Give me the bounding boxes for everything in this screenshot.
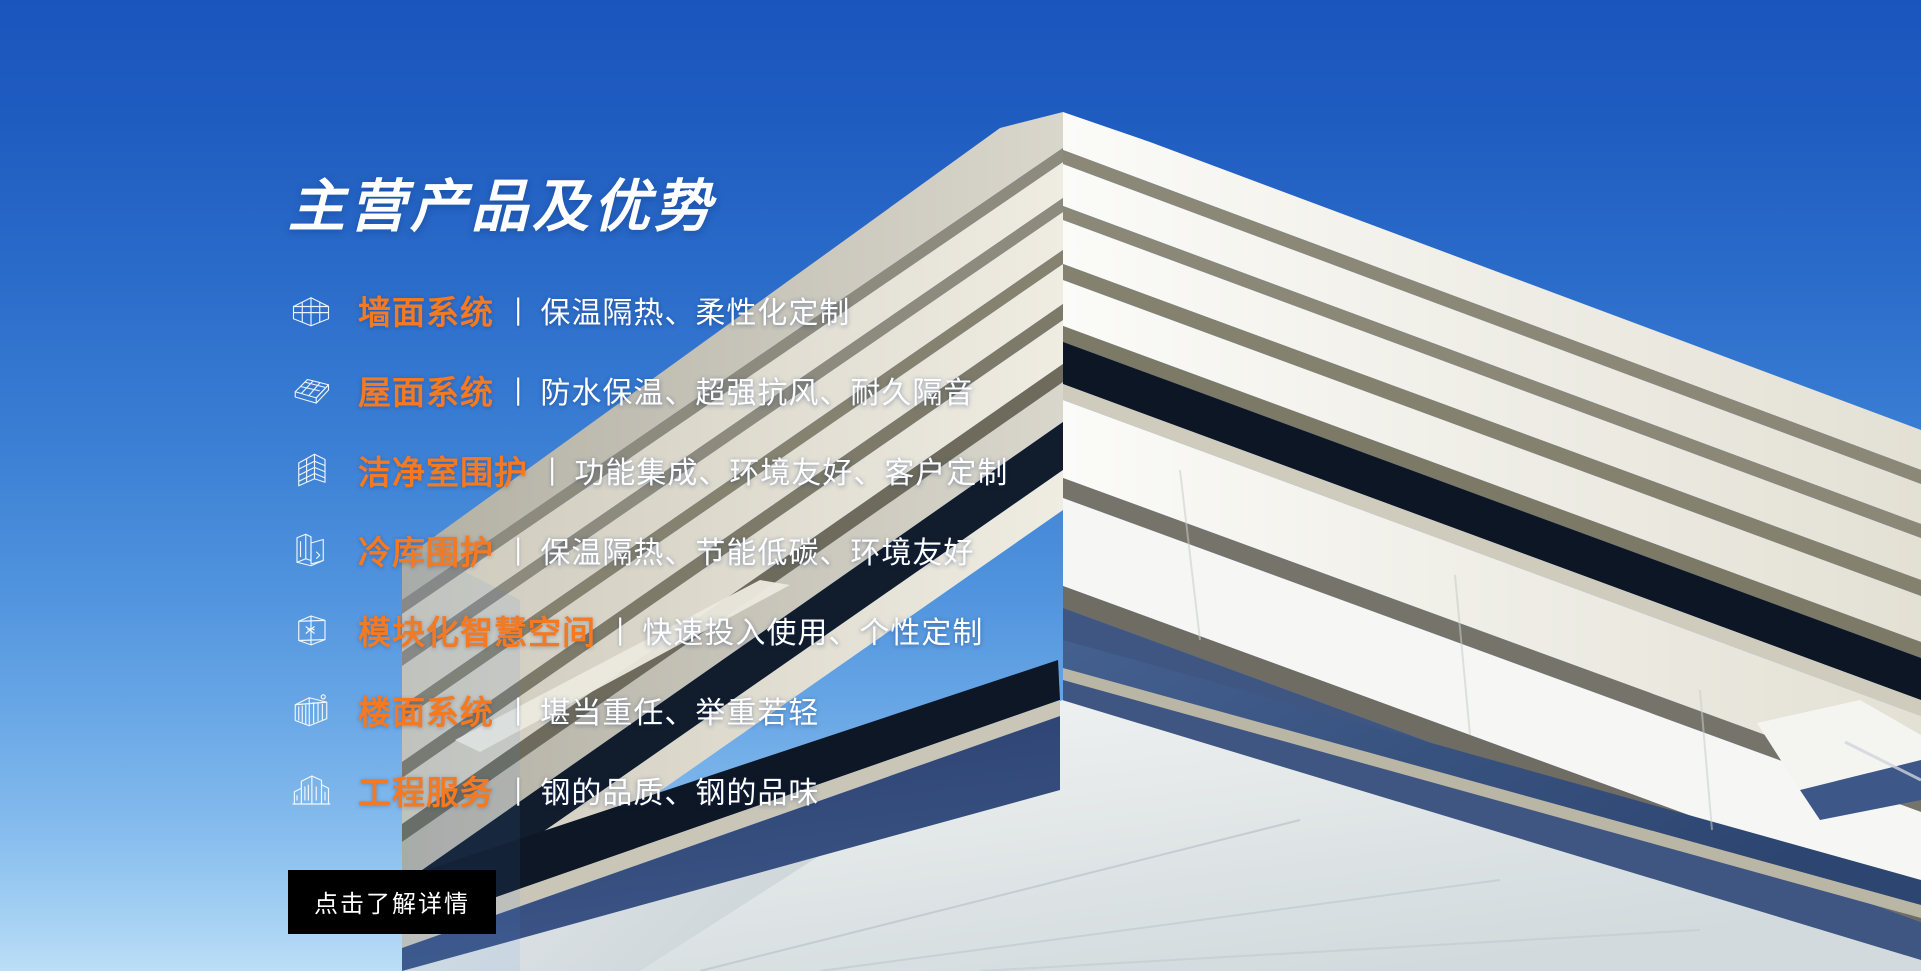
wall-frame-icon <box>288 287 334 333</box>
separator: | <box>516 775 521 805</box>
list-item[interactable]: 楼面系统 | 堪当重任、举重若轻 <box>288 682 1468 738</box>
separator: | <box>516 295 521 325</box>
product-name: 楼面系统 <box>358 686 494 734</box>
page-title: 主营产品及优势 <box>288 178 1468 238</box>
product-list: 墙面系统 | 保温隔热、柔性化定制 屋面系统 | 防水保温、超强抗风、耐久隔音 <box>288 282 1468 818</box>
modular-space-icon <box>288 607 334 653</box>
product-name: 冷库围护 <box>358 526 494 574</box>
product-desc: 堪当重任、举重若轻 <box>540 688 819 732</box>
floor-system-icon <box>288 687 334 733</box>
product-desc: 保温隔热、柔性化定制 <box>540 288 850 332</box>
separator: | <box>618 615 623 645</box>
engineering-icon <box>288 767 334 813</box>
list-item[interactable]: 模块化智慧空间 | 快速投入使用、个性定制 <box>288 602 1468 658</box>
banner-stage: 主营产品及优势 墙面系统 | 保温隔热、柔性化定制 <box>0 0 1921 971</box>
product-name: 洁净室围护 <box>358 446 528 494</box>
product-name: 墙面系统 <box>358 286 494 334</box>
separator: | <box>516 535 521 565</box>
list-item[interactable]: 冷库围护 | 保温隔热、节能低碳、环境友好 <box>288 522 1468 578</box>
list-item[interactable]: 墙面系统 | 保温隔热、柔性化定制 <box>288 282 1468 338</box>
product-name: 屋面系统 <box>358 366 494 414</box>
banner-content: 主营产品及优势 墙面系统 | 保温隔热、柔性化定制 <box>288 178 1468 934</box>
separator: | <box>516 375 521 405</box>
list-item[interactable]: 屋面系统 | 防水保温、超强抗风、耐久隔音 <box>288 362 1468 418</box>
learn-more-button[interactable]: 点击了解详情 <box>288 870 496 934</box>
product-desc: 快速投入使用、个性定制 <box>642 608 983 652</box>
cleanroom-icon <box>288 447 334 493</box>
roof-panel-icon <box>288 367 334 413</box>
product-desc: 防水保温、超强抗风、耐久隔音 <box>540 368 974 412</box>
list-item[interactable]: 工程服务 | 钢的品质、钢的品味 <box>288 762 1468 818</box>
product-name: 模块化智慧空间 <box>358 606 596 654</box>
list-item[interactable]: 洁净室围护 | 功能集成、环境友好、客户定制 <box>288 442 1468 498</box>
product-name: 工程服务 <box>358 766 494 814</box>
product-desc: 钢的品质、钢的品味 <box>540 768 819 812</box>
product-desc: 功能集成、环境友好、客户定制 <box>574 448 1008 492</box>
separator: | <box>516 695 521 725</box>
separator: | <box>550 455 555 485</box>
cold-storage-icon <box>288 527 334 573</box>
product-desc: 保温隔热、节能低碳、环境友好 <box>540 528 974 572</box>
